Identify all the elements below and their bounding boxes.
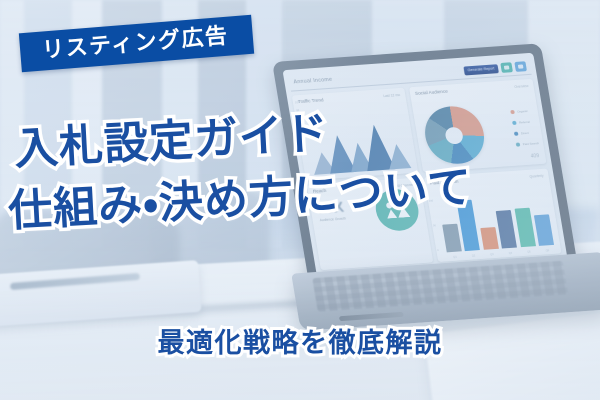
thumbnail-banner: Annual Income Generate Report xyxy=(0,0,600,400)
category-badge-label: リスティング広告 xyxy=(41,25,229,62)
strapline-label: 最適化戦略を徹底解説 xyxy=(158,330,443,357)
strapline: 最適化戦略を徹底解説 xyxy=(0,330,600,357)
